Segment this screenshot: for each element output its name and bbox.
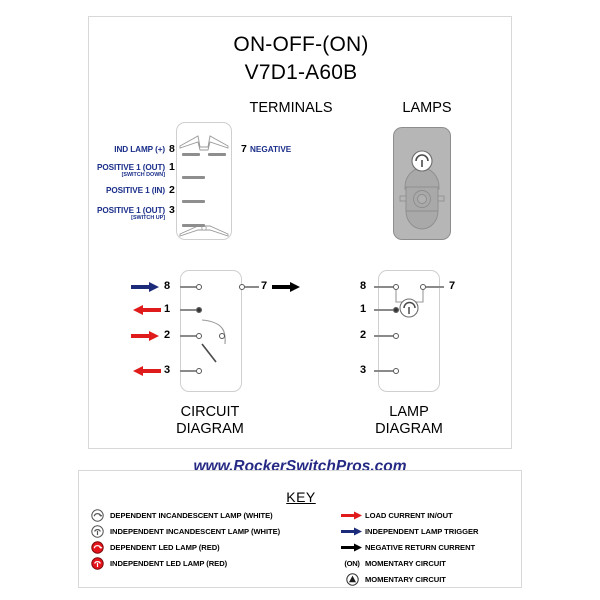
dependent-incandescent-lamp-icon — [89, 509, 105, 522]
circuit-dot-2 — [196, 333, 202, 339]
red-arrow-icon — [344, 511, 360, 520]
circuit-number-3: 3 — [164, 364, 170, 376]
circuit-number-8: 8 — [164, 280, 170, 292]
lamp-internal-wiring — [378, 270, 440, 392]
key-label: DEPENDENT INCANDESCENT LAMP (WHITE) — [110, 511, 273, 520]
lamp-lead-1 — [374, 309, 393, 311]
lamp-caption-line2: DIAGRAM — [329, 421, 489, 438]
key-row-lamp-trigger: INDEPENDENT LAMP TRIGGER — [344, 523, 478, 539]
key-row-load-current: LOAD CURRENT IN/OUT — [344, 507, 478, 523]
key-title: KEY — [79, 489, 523, 505]
key-row-independent-led: INDEPENDENT LED LAMP (RED) — [89, 555, 280, 571]
red-arrow-icon-2 — [131, 330, 161, 342]
terminals-bowtie-icon — [176, 122, 232, 240]
key-left-column: DEPENDENT INCANDESCENT LAMP (WHITE) INDE… — [89, 507, 280, 571]
momentary-triangle-icon — [344, 573, 360, 586]
lamps-heading: LAMPS — [347, 100, 507, 116]
circuit-number-1: 1 — [164, 303, 170, 315]
key-row-independent-incandescent: INDEPENDENT INCANDESCENT LAMP (WHITE) — [89, 523, 280, 539]
lamp-caption: LAMP DIAGRAM — [329, 404, 489, 438]
key-label: DEPENDENT LED LAMP (RED) — [110, 543, 220, 552]
black-arrow-icon — [344, 543, 360, 552]
terminal-number-8: 8 — [169, 143, 175, 155]
circuit-lead-7 — [245, 286, 259, 288]
lamp-lead-8 — [374, 286, 393, 288]
lamp-caption-line1: LAMP — [329, 404, 489, 421]
lamp-dot-2 — [393, 333, 399, 339]
red-arrow-icon-3 — [131, 365, 161, 377]
lamp-number-2: 2 — [360, 329, 366, 341]
lamp-lead-7 — [426, 286, 444, 288]
page-title-line1: ON-OFF-(ON) — [89, 33, 513, 57]
circuit-dot-1-filled — [197, 308, 201, 312]
key-right-column: LOAD CURRENT IN/OUT INDEPENDENT LAMP TRI… — [344, 507, 478, 587]
terminal-label-3: POSITIVE 1 (OUT) — [35, 206, 165, 215]
key-row-dependent-led: DEPENDENT LED LAMP (RED) — [89, 539, 280, 555]
circuit-number-2: 2 — [164, 329, 170, 341]
terminals-switch-detail — [176, 122, 232, 240]
lamp-dot-3 — [393, 368, 399, 374]
circuit-lead-3 — [180, 370, 196, 372]
black-arrow-icon-7 — [272, 281, 302, 293]
lamp-dot-1-filled — [394, 308, 398, 312]
key-row-momentary-triangle: MOMENTARY CIRCUIT — [344, 571, 478, 587]
key-row-negative-return: NEGATIVE RETURN CURRENT — [344, 539, 478, 555]
lamp-lead-3 — [374, 370, 393, 372]
terminal-sublabel-3: [SWITCH UP] — [35, 215, 165, 221]
terminal-sublabel-1: [SWITCH DOWN] — [35, 172, 165, 178]
lamp-lead-2 — [374, 335, 393, 337]
circuit-dot-3 — [196, 368, 202, 374]
terminal-number-2: 2 — [169, 184, 175, 196]
key-label: INDEPENDENT LED LAMP (RED) — [110, 559, 227, 568]
lamp-dot-8 — [393, 284, 399, 290]
circuit-lead-8 — [180, 286, 196, 288]
terminal-number-7: 7 — [241, 143, 247, 155]
navy-arrow-icon — [344, 527, 360, 536]
circuit-lead-1 — [180, 309, 196, 311]
terminal-label-1: POSITIVE 1 (OUT) — [35, 163, 165, 172]
on-parenthesis-label: (ON) — [344, 559, 360, 568]
navy-arrow-icon-8 — [131, 281, 161, 293]
key-label: INDEPENDENT INCANDESCENT LAMP (WHITE) — [110, 527, 280, 536]
circuit-dot-common — [219, 333, 225, 339]
circuit-internal-wiring — [180, 270, 242, 392]
key-label: NEGATIVE RETURN CURRENT — [365, 543, 475, 552]
key-row-dependent-incandescent: DEPENDENT INCANDESCENT LAMP (WHITE) — [89, 507, 280, 523]
dependent-led-lamp-icon — [89, 541, 105, 554]
independent-incandescent-lamp-symbol — [400, 299, 418, 317]
lamp-number-3: 3 — [360, 364, 366, 376]
key-label: MOMENTARY CIRCUIT — [365, 559, 446, 568]
key-row-momentary-on: (ON) MOMENTARY CIRCUIT — [344, 555, 478, 571]
circuit-caption-line2: DIAGRAM — [130, 421, 290, 438]
lamps-switch-detail — [393, 127, 451, 240]
page-title-line2: V7D1-A60B — [89, 61, 513, 85]
key-panel: KEY DEPENDENT INCANDESCENT LAMP (WHITE) — [78, 470, 522, 588]
circuit-lead-2 — [180, 335, 196, 337]
diagram-canvas: ON-OFF-(ON) V7D1-A60B TERMINALS LAMPS IN… — [0, 0, 600, 600]
lamp-number-7: 7 — [449, 280, 455, 292]
key-label: LOAD CURRENT IN/OUT — [365, 511, 453, 520]
circuit-caption-line1: CIRCUIT — [130, 404, 290, 421]
lamp-number-1: 1 — [360, 303, 366, 315]
independent-incandescent-lamp-icon — [412, 151, 432, 171]
terminal-number-1: 1 — [169, 161, 175, 173]
terminal-label-7: NEGATIVE — [250, 145, 291, 154]
red-arrow-icon-1 — [131, 304, 161, 316]
circuit-caption: CIRCUIT DIAGRAM — [130, 404, 290, 438]
lamp-number-8: 8 — [360, 280, 366, 292]
terminal-label-8: IND LAMP (+) — [35, 145, 165, 154]
circuit-number-7: 7 — [261, 280, 267, 292]
key-label: MOMENTARY CIRCUIT — [365, 575, 446, 584]
circuit-dot-8 — [196, 284, 202, 290]
independent-incandescent-lamp-icon — [89, 525, 105, 538]
independent-led-lamp-icon — [89, 557, 105, 570]
terminal-number-3: 3 — [169, 204, 175, 216]
terminal-label-2: POSITIVE 1 (IN) — [35, 186, 165, 195]
key-label: INDEPENDENT LAMP TRIGGER — [365, 527, 478, 536]
